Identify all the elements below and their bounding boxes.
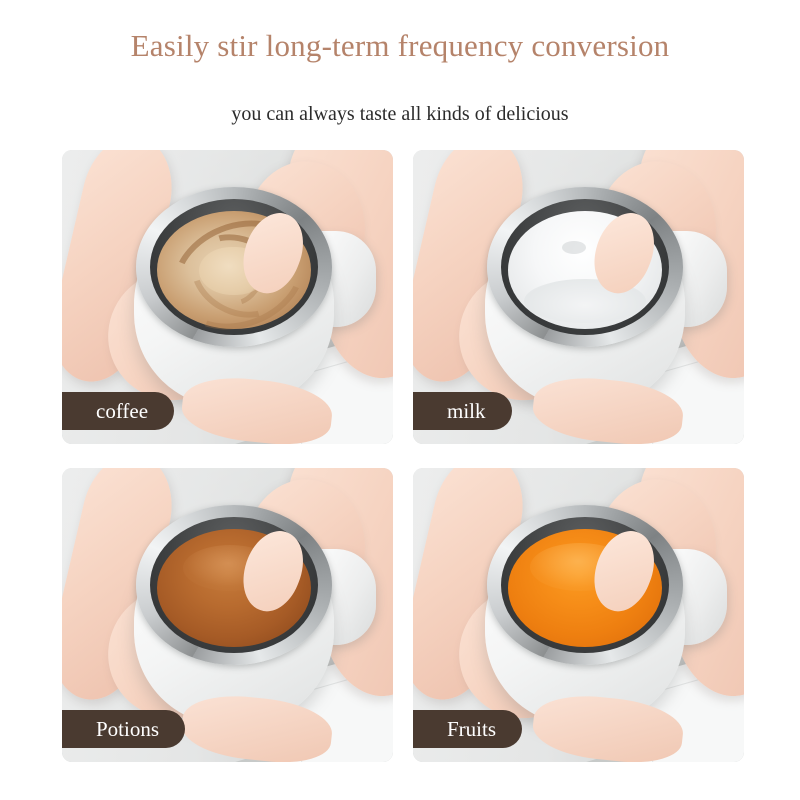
stirring-mug — [479, 187, 693, 401]
beverage-panel-potions[interactable]: Potions — [62, 468, 393, 762]
panel-caption-badge: Potions — [62, 710, 185, 748]
stirring-mug — [479, 505, 693, 719]
milk-surface-mark — [562, 241, 586, 254]
stirring-mug — [128, 505, 342, 719]
page-subtitle: you can always taste all kinds of delici… — [0, 103, 800, 126]
beverage-panel-milk[interactable]: milk — [413, 150, 744, 444]
beverage-panel-coffee[interactable]: coffee — [62, 150, 393, 444]
beverage-panel-grid: coffee milk — [62, 150, 743, 776]
product-feature-page: Easily stir long-term frequency conversi… — [0, 0, 800, 800]
page-title: Easily stir long-term frequency conversi… — [0, 28, 800, 64]
panel-caption-badge: milk — [413, 392, 512, 430]
stirring-mug — [128, 187, 342, 401]
panel-caption-badge: Fruits — [413, 710, 522, 748]
panel-caption-badge: coffee — [62, 392, 174, 430]
beverage-panel-fruits[interactable]: Fruits — [413, 468, 744, 762]
